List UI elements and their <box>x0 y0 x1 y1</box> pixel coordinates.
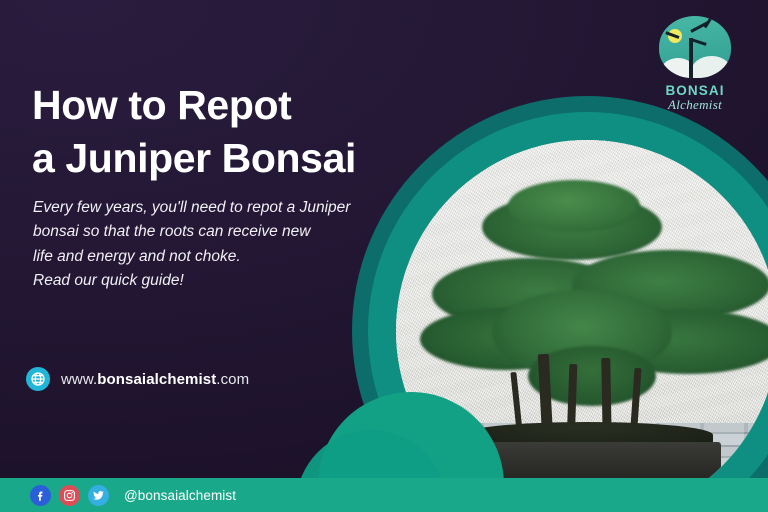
url-domain: bonsaialchemist <box>97 371 216 388</box>
social-media-poster: How to Repot a Juniper Bonsai Every few … <box>0 0 768 512</box>
social-handle: @bonsaialchemist <box>124 488 236 503</box>
description-line-2: bonsai so that the roots can receive new <box>33 220 385 244</box>
rock-shape-right <box>691 56 731 78</box>
tree-branch-shape <box>704 16 713 28</box>
description-line-1: Every few years, you'll need to repot a … <box>33 196 385 220</box>
website-url-text: www.bonsaialchemist.com <box>61 371 249 388</box>
url-suffix: .com <box>216 371 249 388</box>
tree-trunk-shape <box>689 38 693 78</box>
headline-line-1: How to Repot <box>32 82 291 128</box>
logo-brand-subtitle: Alchemist <box>643 97 747 113</box>
website-url[interactable]: www.bonsaialchemist.com <box>26 367 249 391</box>
description-line-4: Read our quick guide! <box>33 269 385 293</box>
page-title: How to Repot a Juniper Bonsai <box>32 79 452 184</box>
description-line-3: life and energy and not choke. <box>33 245 385 269</box>
url-prefix: www. <box>61 371 97 388</box>
globe-icon <box>26 367 50 391</box>
headline-line-2: a Juniper Bonsai <box>32 132 452 184</box>
brand-logo[interactable]: BONSAI Alchemist <box>643 16 747 113</box>
description-text: Every few years, you'll need to repot a … <box>33 196 385 294</box>
social-footer-bar: @bonsaialchemist <box>0 478 768 512</box>
logo-brand-name: BONSAI <box>643 83 747 98</box>
instagram-icon[interactable] <box>59 485 80 506</box>
twitter-icon[interactable] <box>88 485 109 506</box>
bonsai-tree-circle-icon <box>659 16 731 78</box>
facebook-icon[interactable] <box>30 485 51 506</box>
canopy-layer <box>508 180 640 232</box>
